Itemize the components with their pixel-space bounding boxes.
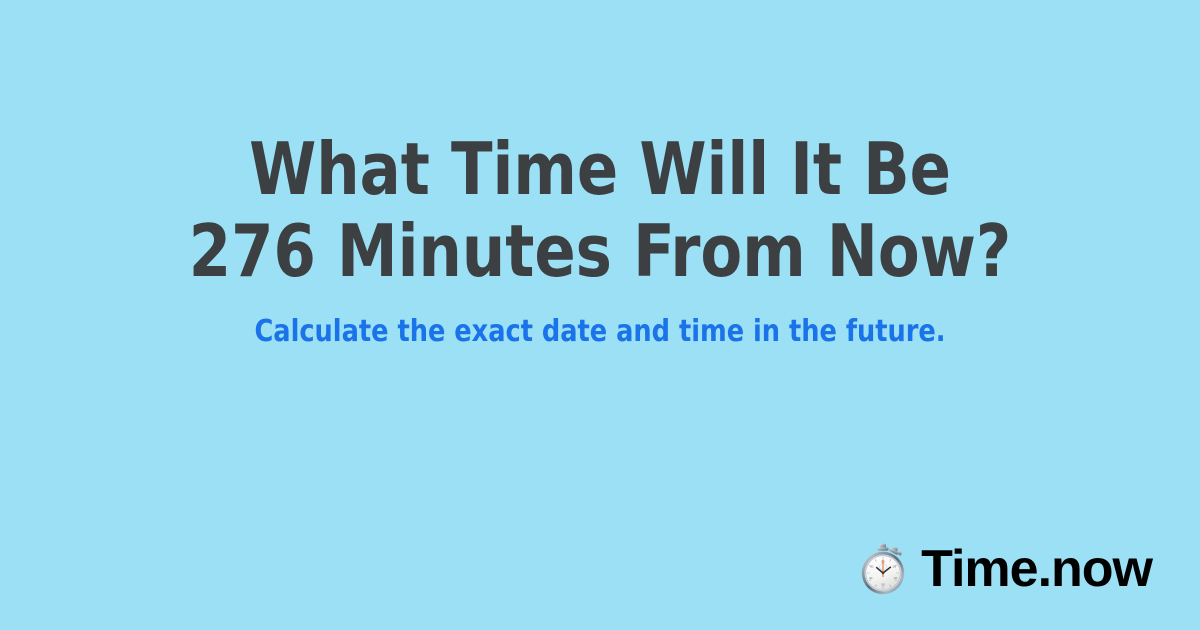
stopwatch-icon: 60 10 20 30 40 50 (857, 543, 909, 595)
hero-section: What Time Will It Be 276 Minutes From No… (0, 128, 1200, 350)
svg-text:50: 50 (870, 565, 874, 569)
svg-text:40: 40 (869, 576, 873, 580)
brand-lockup: 60 10 20 30 40 50 Time.now (857, 538, 1152, 600)
brand-name: Time.now (921, 543, 1152, 595)
page-title-line-2: 276 Minutes From Now? (36, 210, 1164, 292)
svg-text:20: 20 (894, 576, 898, 580)
svg-text:30: 30 (881, 582, 885, 586)
svg-text:10: 10 (893, 565, 897, 569)
page-title-line-1: What Time Will It Be (36, 128, 1164, 210)
page-subtitle: Calculate the exact date and time in the… (30, 314, 1170, 350)
open-graph-card: What Time Will It Be 276 Minutes From No… (0, 0, 1200, 630)
page-title: What Time Will It Be 276 Minutes From No… (36, 128, 1164, 292)
